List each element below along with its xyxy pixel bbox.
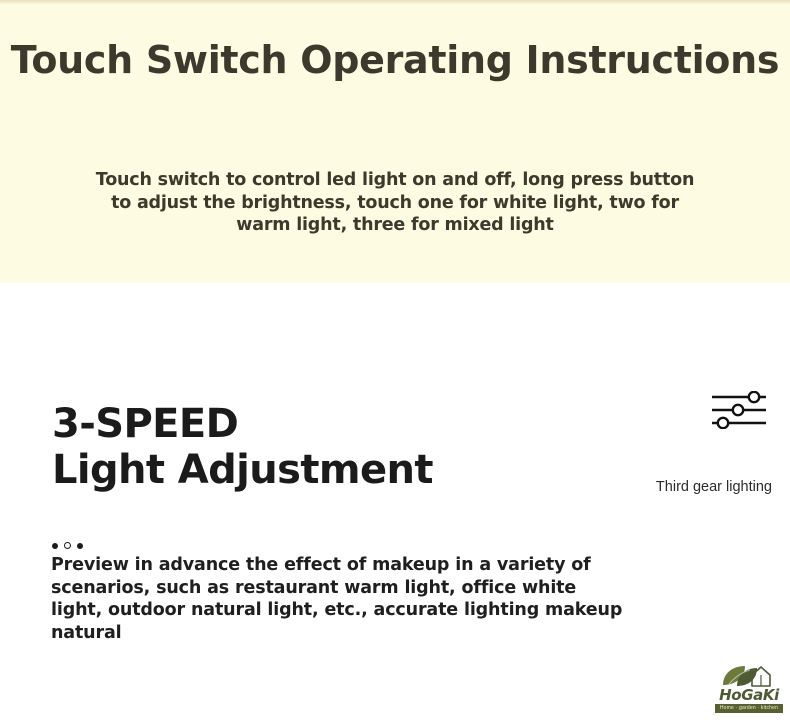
- feature-heading: 3-SPEED Light Adjustment: [52, 401, 433, 493]
- step-dot-hollow-2: [64, 542, 71, 549]
- logo-tagline: Home · garden · kitchen: [715, 704, 783, 713]
- instruction-page: Touch Switch Operating Instructions Touc…: [0, 0, 790, 728]
- step-dots: [52, 542, 83, 549]
- page-title: Touch Switch Operating Instructions: [0, 38, 790, 82]
- page-subtitle: Touch switch to control led light on and…: [95, 169, 695, 237]
- brand-logo: HoGaKi Home · garden · kitchen: [713, 663, 785, 715]
- step-dot-filled-1: [52, 543, 58, 549]
- gear-caption: Third gear lighting: [627, 478, 772, 497]
- sliders-icon: [711, 391, 767, 429]
- main-content: 3-SPEED Light Adjustment Preview in adva…: [0, 283, 790, 728]
- feature-description: Preview in advance the effect of makeup …: [51, 554, 626, 644]
- header-band: Touch Switch Operating Instructions Touc…: [0, 4, 790, 283]
- logo-wordmark: HoGaKi: [713, 687, 785, 703]
- step-dot-filled-3: [77, 543, 83, 549]
